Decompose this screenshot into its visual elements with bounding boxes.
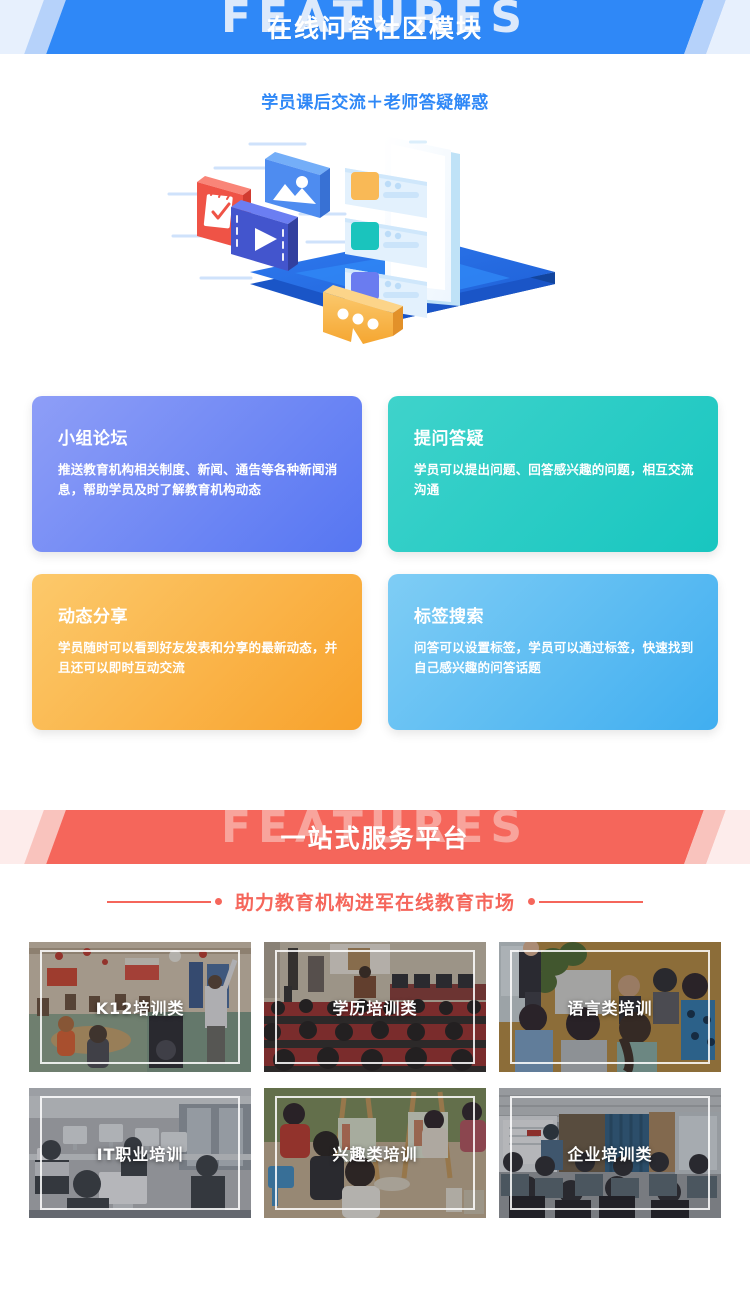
feature-card-desc: 学员随时可以看到好友发表和分享的最新动态，并且还可以即时互动交流	[58, 638, 338, 679]
feature-card-row: 小组论坛 推送教育机构相关制度、新闻、通告等各种新闻消息，帮助学员及时了解教育机…	[32, 396, 718, 552]
feature-card-title: 提问答疑	[414, 424, 694, 449]
feature-card-desc: 推送教育机构相关制度、新闻、通告等各种新闻消息，帮助学员及时了解教育机构动态	[58, 460, 338, 501]
deco-dot	[528, 898, 535, 905]
deco-line	[107, 901, 211, 903]
feature-card-row: 动态分享 学员随时可以看到好友发表和分享的最新动态，并且还可以即时互动交流 标签…	[32, 574, 718, 730]
training-tile-k12[interactable]: K12培训类	[29, 942, 251, 1072]
image-card-icon	[265, 152, 330, 218]
training-tile-label: K12培训类	[29, 995, 251, 1019]
training-tile-degree[interactable]: 学历培训类	[264, 942, 486, 1072]
training-category-row: K12培训类	[29, 942, 721, 1072]
community-illustration	[155, 132, 595, 367]
training-tile-label: IT职业培训	[29, 1141, 251, 1165]
section-one-banner: FEATURES 在线问答社区模块	[0, 0, 750, 54]
training-tile-enterprise[interactable]: 企业培训类	[499, 1088, 721, 1218]
feature-card-tag-search[interactable]: 标签搜索 问答可以设置标签，学员可以通过标签，快速找到自己感兴趣的问答话题	[388, 574, 718, 730]
training-tile-label: 学历培训类	[264, 995, 486, 1019]
feature-card-desc: 学员可以提出问题、回答感兴趣的问题，相互交流沟通	[414, 460, 694, 501]
feature-card-group-forum[interactable]: 小组论坛 推送教育机构相关制度、新闻、通告等各种新闻消息，帮助学员及时了解教育机…	[32, 396, 362, 552]
feature-card-grid: 小组论坛 推送教育机构相关制度、新闻、通告等各种新闻消息，帮助学员及时了解教育机…	[32, 396, 718, 752]
section-two-subtitle-row: 助力教育机构进军在线教育市场	[0, 888, 750, 915]
feature-card-qa[interactable]: 提问答疑 学员可以提出问题、回答感兴趣的问题，相互交流沟通	[388, 396, 718, 552]
video-card-icon	[231, 200, 298, 271]
feature-card-title: 动态分享	[58, 602, 338, 627]
section-two-subtitle: 助力教育机构进军在线教育市场	[235, 888, 515, 915]
training-category-grid: K12培训类	[29, 942, 721, 1234]
training-tile-label: 语言类培训	[499, 995, 721, 1019]
training-tile-it[interactable]: IT职业培训	[29, 1088, 251, 1218]
deco-dot	[215, 898, 222, 905]
training-tile-label: 兴趣类培训	[264, 1141, 486, 1165]
section-one-title: 在线问答社区模块	[0, 0, 750, 54]
section-one-subtitle: 学员课后交流＋老师答疑解惑	[0, 88, 750, 113]
feature-card-title: 小组论坛	[58, 424, 338, 449]
section-two-title: 一站式服务平台	[0, 810, 750, 864]
landing-page: FEATURES 在线问答社区模块 学员课后交流＋老师答疑解惑	[0, 0, 750, 1316]
training-tile-language[interactable]: 语言类培训	[499, 942, 721, 1072]
subtitle-deco-left	[107, 898, 222, 905]
training-category-row: IT职业培训	[29, 1088, 721, 1218]
training-tile-interest[interactable]: 兴趣类培训	[264, 1088, 486, 1218]
feature-card-desc: 问答可以设置标签，学员可以通过标签，快速找到自己感兴趣的问答话题	[414, 638, 694, 679]
training-tile-label: 企业培训类	[499, 1141, 721, 1165]
feature-card-title: 标签搜索	[414, 602, 694, 627]
subtitle-deco-right	[528, 898, 643, 905]
deco-line	[539, 901, 643, 903]
section-two-banner: FEATURES 一站式服务平台	[0, 810, 750, 864]
feature-card-moments[interactable]: 动态分享 学员随时可以看到好友发表和分享的最新动态，并且还可以即时互动交流	[32, 574, 362, 730]
